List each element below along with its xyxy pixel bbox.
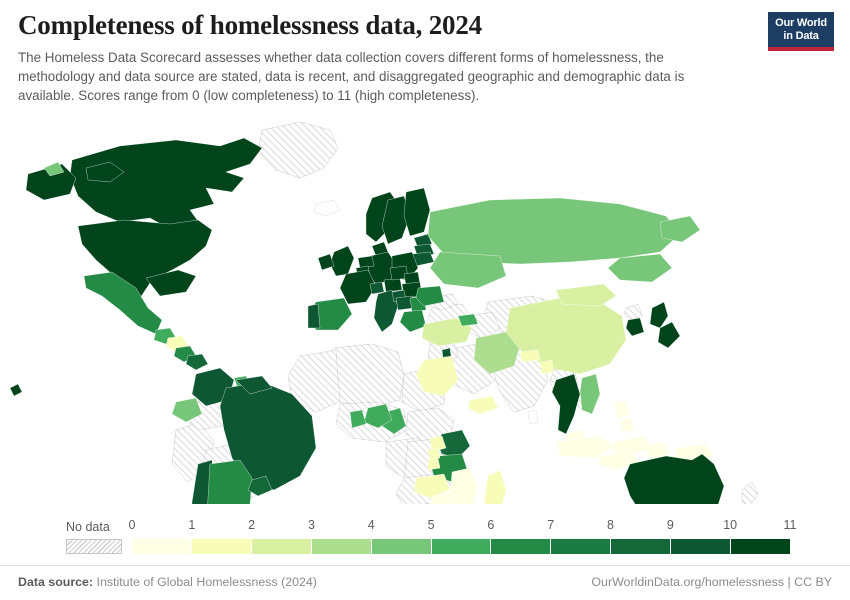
legend-tick-7: 7: [547, 518, 554, 532]
legend-tick-2: 2: [248, 518, 255, 532]
data-source-label: Data source:: [18, 575, 93, 589]
legend-tick-3: 3: [308, 518, 315, 532]
legend-tick-4: 4: [368, 518, 375, 532]
world-map[interactable]: [0, 112, 850, 504]
license-note[interactable]: OurWorldinData.org/homelessness | CC BY: [591, 575, 832, 589]
legend-tick-9: 9: [667, 518, 674, 532]
legend-tick-11: 11: [784, 518, 797, 532]
legend-tick-1: 1: [188, 518, 195, 532]
data-source: Data source: Institute of Global Homeles…: [18, 575, 317, 589]
logo-line-2: in Data: [772, 30, 830, 43]
legend-bin-1[interactable]: [192, 539, 252, 554]
chart-header: Completeness of homelessness data, 2024 …: [18, 10, 832, 105]
legend-bin-7[interactable]: [551, 539, 611, 554]
chart-footer: Data source: Institute of Global Homeles…: [0, 565, 850, 600]
legend-tick-8: 8: [607, 518, 614, 532]
legend-bin-8[interactable]: [611, 539, 671, 554]
owid-chart: Completeness of homelessness data, 2024 …: [0, 0, 850, 600]
legend-bin-0[interactable]: [132, 539, 192, 554]
legend-bin-3[interactable]: [312, 539, 372, 554]
legend-ticks: 01234567891011: [132, 518, 790, 536]
legend-bin-4[interactable]: [372, 539, 432, 554]
legend-bin-2[interactable]: [252, 539, 312, 554]
owid-logo[interactable]: Our World in Data: [768, 12, 834, 51]
legend-bin-5[interactable]: [432, 539, 492, 554]
no-data-label: No data: [66, 520, 110, 534]
logo-line-1: Our World: [772, 17, 830, 30]
legend-tick-0: 0: [129, 518, 136, 532]
chart-subtitle: The Homeless Data Scorecard assesses whe…: [18, 48, 730, 105]
legend-tick-10: 10: [723, 518, 737, 532]
legend-tick-5: 5: [428, 518, 435, 532]
legend-bin-9[interactable]: [671, 539, 731, 554]
legend-color-bins[interactable]: [132, 539, 790, 554]
legend-bin-6[interactable]: [491, 539, 551, 554]
page-title: Completeness of homelessness data, 2024: [18, 10, 832, 41]
map-legend: No data 01234567891011: [0, 508, 850, 556]
data-source-value: Institute of Global Homelessness (2024): [93, 575, 317, 589]
no-data-swatch[interactable]: [66, 539, 122, 554]
valued-countries: [10, 138, 724, 504]
legend-tick-6: 6: [487, 518, 494, 532]
legend-bin-10[interactable]: [731, 539, 790, 554]
